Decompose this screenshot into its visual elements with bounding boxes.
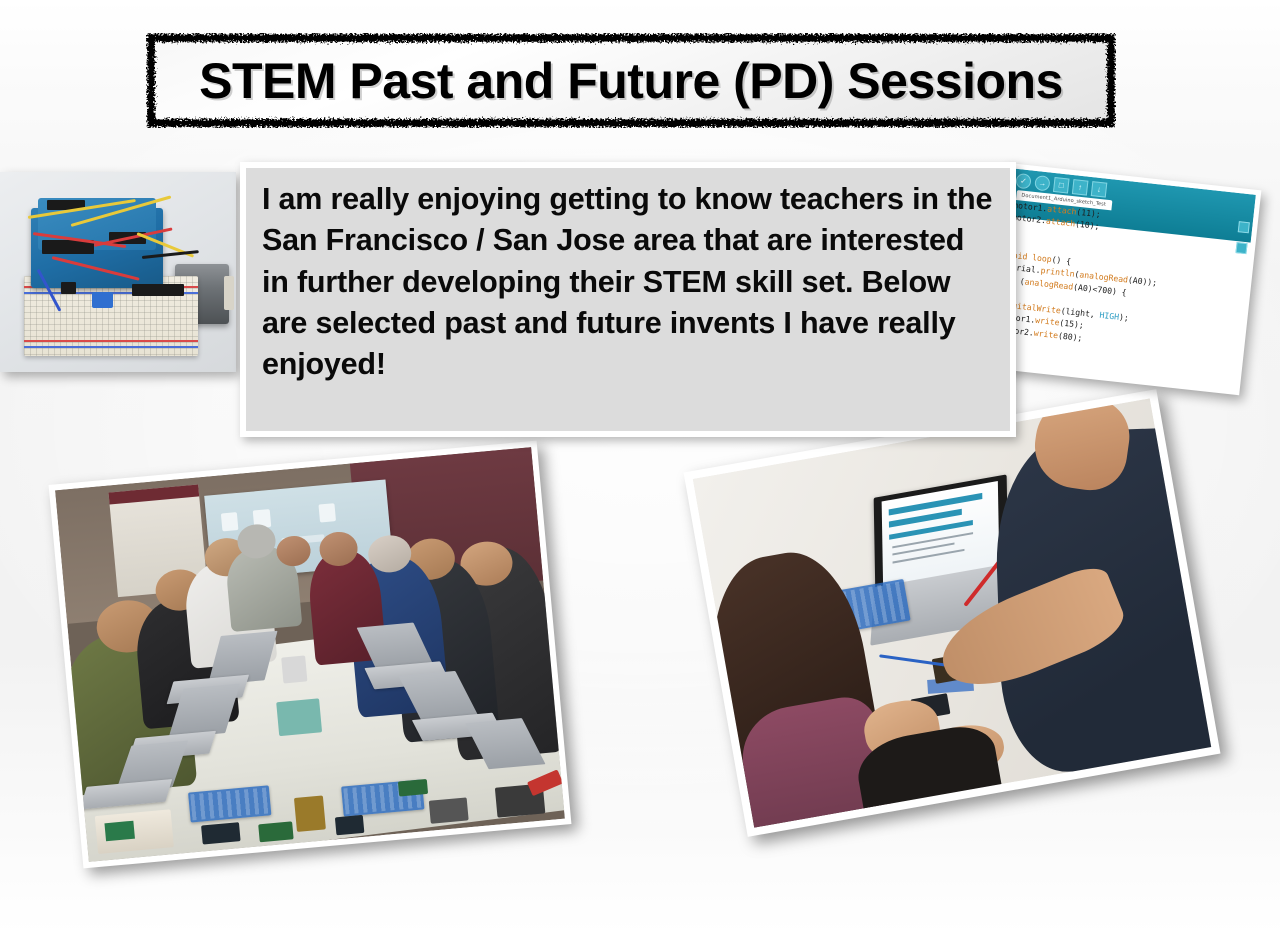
- svg-text:1: 1: [1172, 806, 1179, 817]
- svg-text:IO/1F-H8.5: IO/1F-H8.5: [1160, 423, 1243, 438]
- svg-text:100n: 100n: [1112, 149, 1145, 164]
- teaching-image: [693, 398, 1211, 827]
- svg-text:2: 2: [222, 410, 229, 421]
- svg-text:D3: D3: [240, 437, 251, 450]
- workshop-image: [55, 447, 565, 862]
- arduino-ide-inner: ✓ → □ ↑ ↓ Document1_Arduino_sketch_Test …: [990, 168, 1256, 389]
- svg-text:+5V: +5V: [1112, 79, 1137, 94]
- svg-text:D+: D+: [24, 621, 41, 636]
- new-icon[interactable]: □: [1053, 177, 1070, 194]
- verify-icon[interactable]: ✓: [1015, 173, 1032, 190]
- arduino-breadboard-photo: [0, 172, 236, 372]
- svg-text:1K PH2D: 1K PH2D: [605, 610, 616, 656]
- svg-text:YELLOW: YELLOW: [576, 764, 616, 775]
- body-text-panel: I am really enjoying getting to know tea…: [240, 162, 1016, 437]
- svg-text:VTH: VTH: [222, 14, 242, 25]
- save-icon[interactable]: ↓: [1091, 181, 1108, 198]
- svg-text:SCK2: SCK2: [66, 426, 99, 441]
- body-text: I am really enjoying getting to know tea…: [262, 179, 996, 386]
- svg-text:C5: C5: [652, 482, 663, 495]
- svg-text:RX: RX: [586, 812, 599, 823]
- svg-text:YELLOW: YELLOW: [576, 824, 616, 835]
- svg-text:4: 4: [222, 425, 229, 436]
- svg-text:0: 0: [1216, 806, 1223, 817]
- page-title-text: STEM Past and Future (PD) Sessions: [199, 56, 1063, 106]
- svg-text:PC2: PC2: [1062, 134, 1087, 149]
- body-text-panel-inner: I am really enjoying getting to know tea…: [246, 168, 1010, 431]
- svg-text:+5V: +5V: [122, 35, 147, 50]
- workshop-photo: [49, 441, 572, 869]
- svg-text:GND: GND: [662, 545, 687, 560]
- arduino-ide-window: ✓ → □ ↑ ↓ Document1_Arduino_sketch_Test …: [985, 163, 1262, 395]
- upload-icon[interactable]: →: [1034, 175, 1051, 192]
- svg-text:MISO2: MISO2: [56, 411, 98, 426]
- page-title: STEM Past and Future (PD) Sessions: [148, 35, 1114, 126]
- svg-text:1: 1: [1216, 792, 1223, 803]
- svg-text:3: 3: [1172, 778, 1179, 789]
- ide-code-area[interactable]: motor1.attach(11); motor2.attach(10); } …: [999, 199, 1248, 361]
- svg-text:5: 5: [178, 440, 185, 451]
- svg-text:3: 3: [1216, 764, 1223, 775]
- svg-text:6: 6: [1216, 722, 1223, 733]
- svg-text:2: 2: [1216, 778, 1223, 789]
- svg-text:4: 4: [1172, 764, 1179, 775]
- svg-text:SCL: SCL: [1210, 444, 1235, 459]
- svg-text:IOL: IOL: [1168, 827, 1193, 842]
- svg-text:3: 3: [178, 425, 185, 436]
- slide-canvas: +5V +5V +5V PC2 C2 47u 100n LM358IDGKP S…: [0, 0, 1280, 934]
- svg-text:1: 1: [178, 410, 185, 421]
- svg-text:7: 7: [1216, 708, 1223, 719]
- arduino-breadboard-image: [0, 172, 236, 372]
- svg-text:USB boot En: USB boot En: [586, 588, 601, 680]
- svg-text:F1: F1: [30, 529, 47, 544]
- svg-text:+H8.5: +H8.5: [1196, 579, 1238, 594]
- svg-text:RESET2: RESET2: [62, 441, 112, 456]
- svg-text:ICSP1: ICSP1: [190, 387, 232, 402]
- svg-text:C2: C2: [1112, 134, 1129, 149]
- svg-text:8: 8: [1220, 562, 1228, 577]
- open-icon[interactable]: ↑: [1072, 179, 1089, 196]
- svg-text:SDA: SDA: [1210, 458, 1235, 473]
- svg-text:47u: 47u: [1060, 149, 1085, 164]
- svg-text:D-: D-: [24, 604, 41, 619]
- svg-text:2: 2: [1172, 792, 1179, 803]
- svg-text:OSC: OSC: [8, 660, 19, 680]
- svg-text:+5V: +5V: [1128, 93, 1153, 108]
- svg-text:TX: TX: [586, 752, 599, 763]
